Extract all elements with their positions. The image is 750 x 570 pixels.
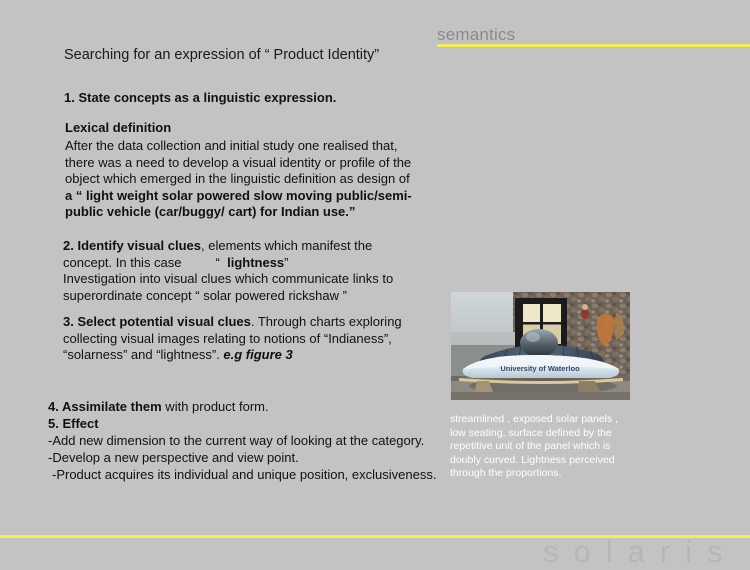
brand-watermark: solaris: [543, 534, 738, 570]
step-5-bullet-1: -Add new dimension to the current way of…: [48, 433, 424, 448]
svg-text:University of Waterloo: University of Waterloo: [500, 364, 580, 373]
step-4-5-block: 4. Assimilate them with product form. 5.…: [48, 398, 448, 483]
step-2-quote-open: “: [216, 255, 220, 270]
solar-car-photo: University of Waterloo: [451, 292, 630, 400]
caption-line-4: doubly curved. Lightness perceived: [450, 454, 615, 466]
step-3-line2: collecting visual images relating to not…: [63, 331, 392, 346]
lexical-line-5: public vehicle (car/buggy/ cart) for Ind…: [65, 204, 355, 219]
step-5-bullet-2: -Develop a new perspective and view poin…: [48, 450, 299, 465]
step-4-bold-lead: 4. Assimilate them: [48, 399, 162, 414]
header-accent-rule: [437, 44, 750, 47]
lexical-definition-body: After the data collection and initial st…: [65, 138, 435, 221]
section-header-label: semantics: [437, 25, 515, 45]
step-1-heading: 1. State concepts as a linguistic expres…: [64, 90, 336, 105]
step-2-quote-close: ”: [284, 255, 288, 270]
step-3-bold-lead: 3. Select potential visual clues: [63, 314, 251, 329]
step-2-rest: , elements which manifest the: [201, 238, 372, 253]
slide-canvas: semantics Searching for an expression of…: [0, 0, 750, 563]
step-2-line4: superordinate concept “ solar powered ri…: [63, 288, 347, 303]
step-2-keyword: lightness: [227, 255, 284, 270]
step-2-line2-pre: concept. In this case: [63, 255, 182, 270]
caption-line-2: low seating, surface defined by the: [450, 427, 612, 439]
slide-title: Searching for an expression of “ Product…: [64, 47, 379, 63]
step-2-block: 2. Identify visual clues, elements which…: [63, 238, 443, 304]
lexical-line-4: a “ light weight solar powered slow movi…: [65, 188, 412, 203]
step-4-rest: with product form.: [162, 399, 269, 414]
step-5-bullet-3: -Product acquires its individual and uni…: [48, 467, 436, 482]
lexical-line-1: After the data collection and initial st…: [65, 138, 397, 153]
step-2-line3: Investigation into visual clues which co…: [63, 271, 393, 286]
lexical-line-3: object which emerged in the linguistic d…: [65, 171, 410, 186]
lexical-line-2: there was a need to develop a visual ide…: [65, 155, 411, 170]
lexical-definition-heading: Lexical definition: [65, 120, 171, 135]
figure-reference: e.g figure 3: [223, 347, 292, 362]
step-3-line3-pre: “solarness” and “lightness”.: [63, 347, 223, 362]
step-3-block: 3. Select potential visual clues. Throug…: [63, 314, 443, 364]
caption-line-5: through the proportions.: [450, 467, 562, 479]
caption-line-3: repetitive unit of the panel which is: [450, 440, 611, 452]
caption-line-1: streamlined , exposed solar panels ,: [450, 413, 618, 425]
step-3-rest: . Through charts exploring: [251, 314, 402, 329]
figure-caption: streamlined , exposed solar panels , low…: [450, 413, 630, 481]
step-5-bold-lead: 5. Effect: [48, 416, 99, 431]
step-2-bold-lead: 2. Identify visual clues: [63, 238, 201, 253]
